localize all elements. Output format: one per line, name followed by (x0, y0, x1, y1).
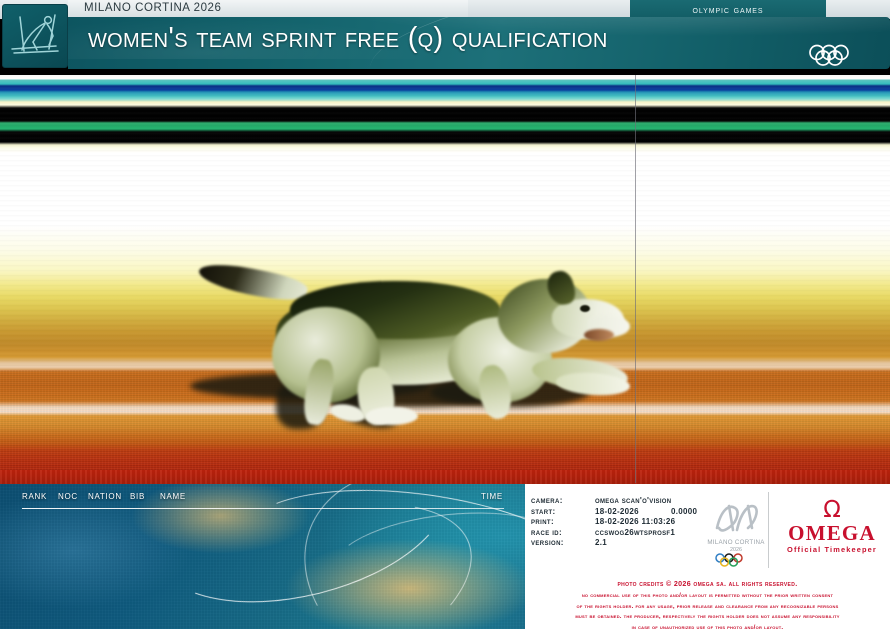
red-separator-bar (0, 470, 890, 484)
metadata-value2: 0.0000 (671, 507, 697, 516)
metadata-row-race-id: Race ID: CCSWOG26WTSPROSF1 (531, 528, 726, 539)
results-panel: Rank NOC Nation Bib Name Time (0, 484, 525, 629)
olympic-games-label: Olympic Games (630, 4, 826, 16)
legal-disclaimer: No commercial use of this photo and/or l… (531, 591, 884, 629)
metadata-value: 18-02-2026 (595, 507, 639, 516)
omega-wordmark: OMEGA (780, 522, 884, 544)
omega-tagline: Official Timekeeper (780, 545, 884, 554)
column-nation[interactable]: Nation (88, 490, 122, 502)
omega-logo: Ω OMEGA Official Timekeeper (780, 500, 884, 554)
column-time[interactable]: Time (481, 490, 503, 502)
metadata-key: Camera: (531, 496, 563, 505)
metadata-key: Print: (531, 517, 554, 526)
camera-metadata-list: Camera: Omega Scan'O'Vision Start: 18-02… (531, 496, 726, 549)
info-panel-divider (768, 492, 769, 568)
header-title-bar: Women's Team Sprint Free (Q) Qualificati… (68, 17, 890, 69)
photofinish-page: MILANO CORTINA 2026 Olympic Games Women'… (0, 0, 890, 629)
omega-symbol-icon: Ω (780, 500, 884, 522)
column-noc[interactable]: NOC (58, 490, 78, 502)
page-title: Women's Team Sprint Free (Q) Qualificati… (88, 22, 608, 55)
column-rank[interactable]: Rank (22, 490, 47, 502)
running-dog-subject (180, 255, 630, 475)
event-name-label: MILANO CORTINA 2026 (84, 2, 221, 14)
legal-line: No commercial use of this photo and/or l… (531, 591, 884, 602)
photo-credit-line: Photo credits © 2026 OMEGA SA. All right… (525, 580, 890, 588)
column-name[interactable]: Name (160, 490, 186, 502)
mc-logo-year: 2026 (730, 547, 742, 553)
legal-line: in case of unauthorized use of this phot… (531, 623, 884, 629)
photofinish-image[interactable] (0, 75, 890, 483)
metadata-key: Version: (531, 538, 564, 547)
metadata-row-start: Start: 18-02-2026 0.0000 (531, 507, 726, 518)
metadata-key: Race ID: (531, 528, 562, 537)
olympic-rings-icon (806, 44, 868, 66)
metadata-key: Start: (531, 507, 556, 516)
metadata-row-camera: Camera: Omega Scan'O'Vision (531, 496, 726, 507)
page-header: MILANO CORTINA 2026 Olympic Games Women'… (0, 0, 890, 75)
cross-country-skiing-pictogram (2, 4, 68, 68)
finish-line-cursor[interactable] (635, 75, 636, 483)
legal-line: of the rights holder. For any usage, pri… (531, 602, 884, 613)
mc-logo-name: MILANO CORTINA (707, 539, 765, 546)
legal-line: must be obtained. The producer, respecti… (531, 612, 884, 623)
metadata-row-version: Version: 2.1 (531, 538, 726, 549)
milano-cortina-logo: MILANO CORTINA 2026 (707, 494, 765, 568)
column-bib[interactable]: Bib (130, 490, 145, 502)
metadata-row-print: Print: 18-02-2026 11:03:26 (531, 517, 726, 528)
metadata-value: 18-02-2026 11:03:26 (595, 517, 675, 526)
metadata-value: Omega Scan'O'Vision (595, 496, 671, 505)
info-panel: Camera: Omega Scan'O'Vision Start: 18-02… (525, 484, 890, 629)
results-table-header: Rank NOC Nation Bib Name Time (0, 484, 525, 510)
results-header-rule (22, 508, 504, 509)
metadata-value: 2.1 (595, 538, 607, 547)
metadata-value: CCSWOG26WTSPROSF1 (595, 528, 675, 537)
